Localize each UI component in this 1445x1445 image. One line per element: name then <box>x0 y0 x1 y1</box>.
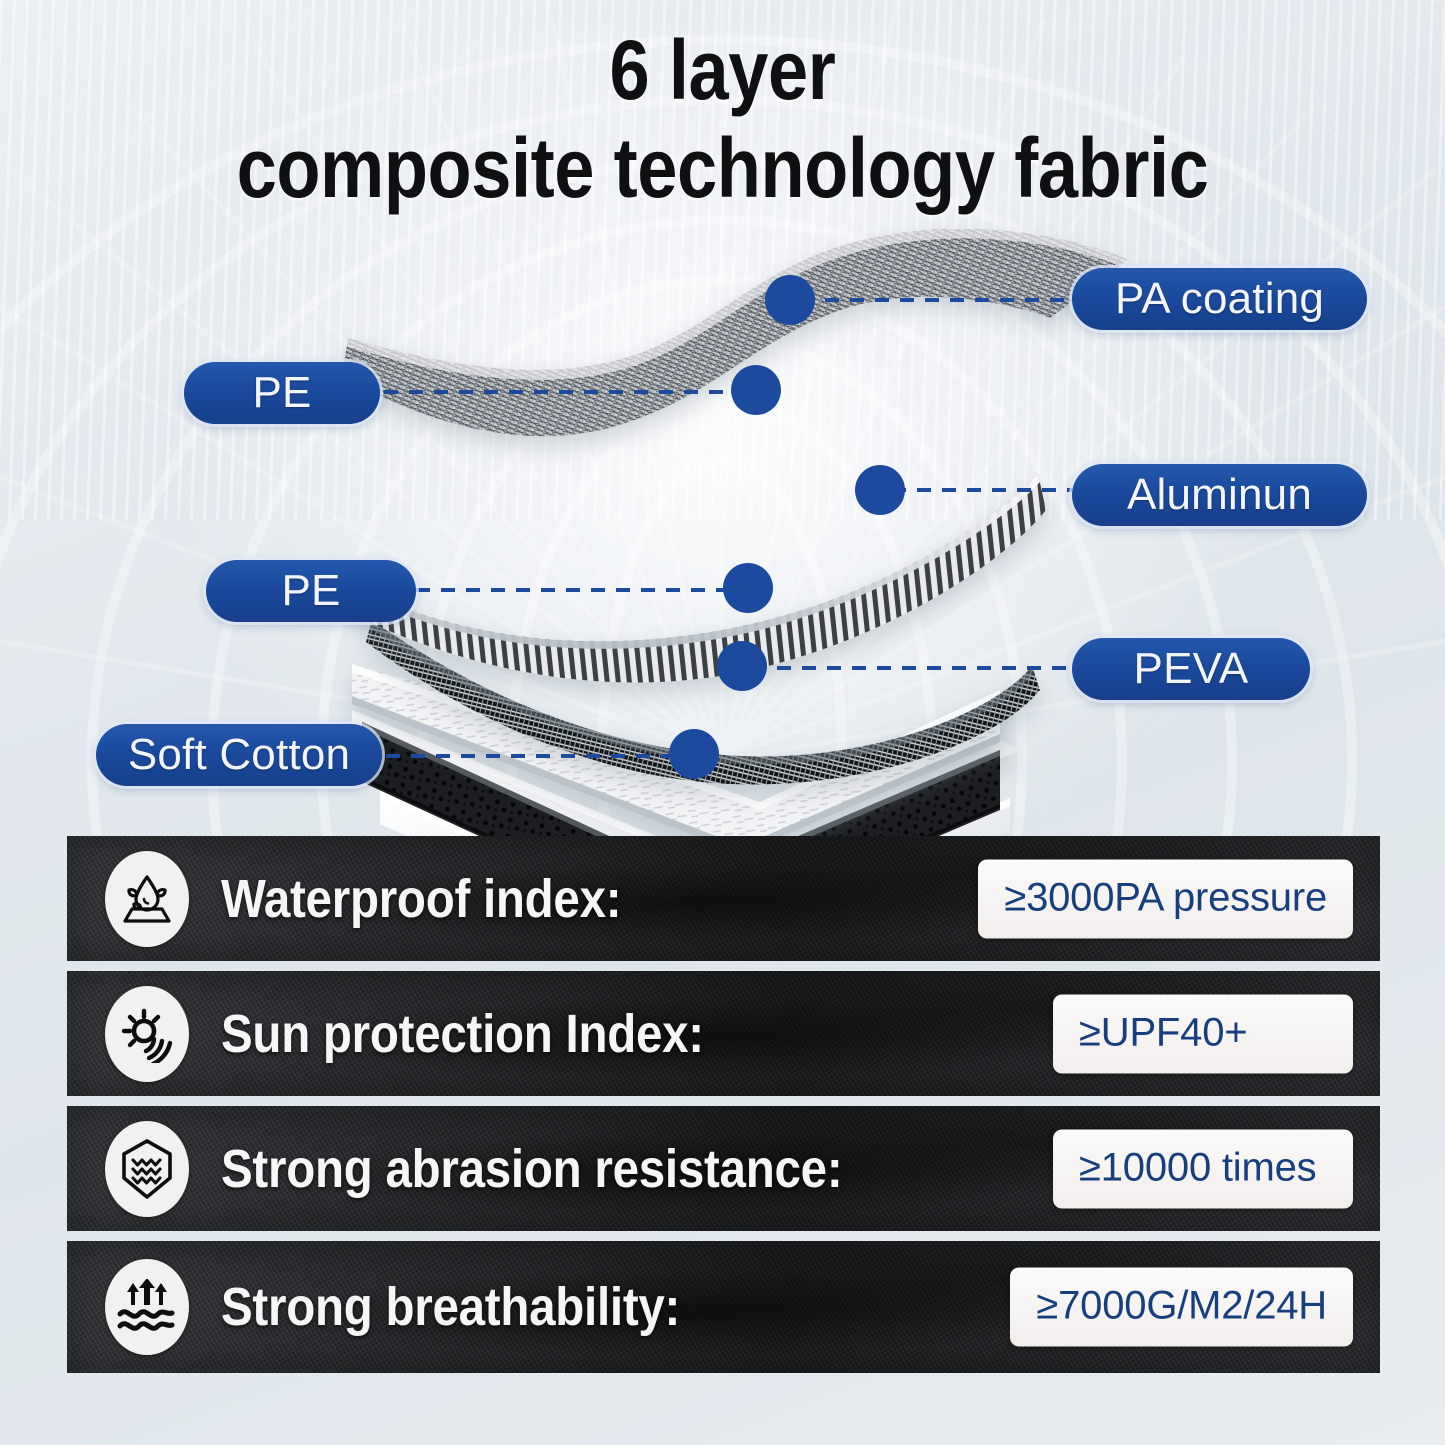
layer-pa-coating <box>342 229 1128 436</box>
dot-pe-bottom <box>723 563 773 613</box>
layer-label-pa-coating[interactable]: PA coating <box>1072 268 1367 330</box>
layer-label-peva[interactable]: PEVA <box>1072 638 1310 700</box>
feature-label: Sun protection Index: <box>221 1003 704 1065</box>
feature-row-sun-protection: Sun protection Index: ≥UPF40+ <box>67 971 1380 1096</box>
layer-label-text: PEVA <box>1134 644 1249 694</box>
feature-value-abrasion-resistance: ≥10000 times <box>1053 1129 1353 1208</box>
layer-label-pe-top[interactable]: PE <box>184 362 380 424</box>
dot-aluminun <box>855 465 905 515</box>
arrows-waves-icon <box>105 1259 189 1355</box>
dot-pa-coating <box>765 275 815 325</box>
feature-value-waterproof: ≥3000PA pressure <box>978 859 1353 938</box>
feature-value-sun-protection: ≥UPF40+ <box>1053 994 1353 1073</box>
feature-row-abrasion-resistance: Strong abrasion resistance: ≥10000 times <box>67 1106 1380 1231</box>
feature-label: Strong breathability: <box>221 1276 680 1338</box>
title-line-2: composite technology fabric <box>101 126 1344 210</box>
dot-soft-cotton <box>669 729 719 779</box>
layer-label-text: PE <box>281 566 340 616</box>
feature-label: Strong abrasion resistance: <box>221 1138 842 1200</box>
layer-label-soft-cotton[interactable]: Soft Cotton <box>96 724 382 786</box>
layer-label-text: PE <box>252 368 311 418</box>
feature-row-breathability: Strong breathability: ≥7000G/M2/24H <box>67 1241 1380 1373</box>
feature-value-breathability: ≥7000G/M2/24H <box>1010 1268 1353 1347</box>
shield-waves-icon <box>105 1121 189 1217</box>
layer-label-text: Aluminun <box>1127 470 1312 520</box>
dot-pe-top <box>731 365 781 415</box>
layer-label-text: PA coating <box>1115 274 1324 324</box>
title-line-1: 6 layer <box>101 28 1344 112</box>
layer-label-pe-bottom[interactable]: PE <box>206 560 416 622</box>
layer-label-text: Soft Cotton <box>128 730 350 780</box>
feature-list: Waterproof index: ≥3000PA pressure <box>67 836 1380 1373</box>
dot-peva <box>717 641 767 691</box>
layer-label-aluminun[interactable]: Aluminun <box>1072 464 1367 526</box>
page-title: 6 layer composite technology fabric <box>0 28 1445 210</box>
water-drop-surface-icon <box>105 851 189 947</box>
sun-rays-icon <box>105 986 189 1082</box>
layer-pe-top <box>352 474 1046 682</box>
feature-row-waterproof: Waterproof index: ≥3000PA pressure <box>67 836 1380 961</box>
feature-label: Waterproof index: <box>221 868 621 930</box>
infographic-page: 6 layer composite technology fabric <box>0 0 1445 1445</box>
